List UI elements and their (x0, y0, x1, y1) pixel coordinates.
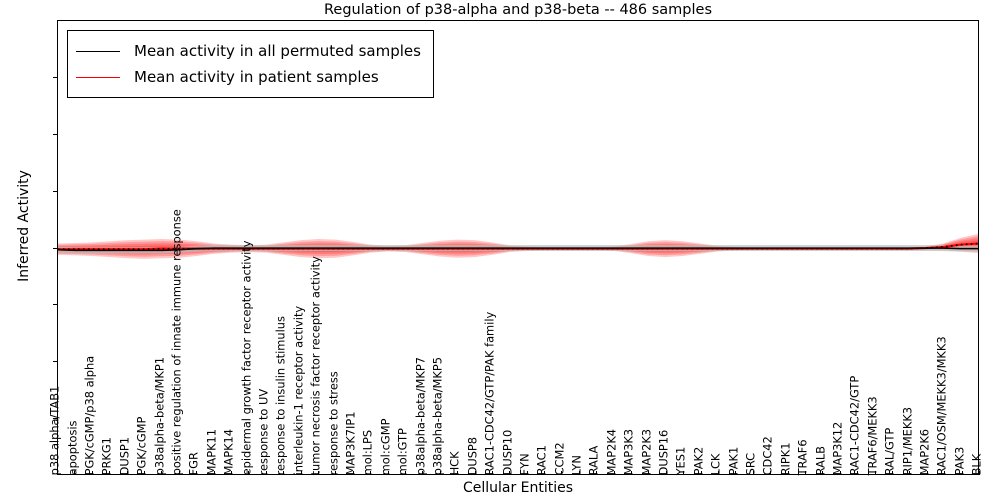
x-axis-title: Cellular Entities (57, 480, 979, 496)
y-tick-mark (53, 248, 57, 249)
y-tick-mark (53, 361, 57, 362)
chart-figure: Regulation of p38-alpha and p38-beta -- … (0, 0, 1000, 500)
legend-line-permuted-icon (76, 51, 120, 52)
legend-label-permuted: Mean activity in all permuted samples (134, 42, 421, 60)
chart-legend: Mean activity in all permuted samples Me… (67, 30, 434, 98)
page-title: Regulation of p38-alpha and p38-beta -- … (57, 1, 979, 19)
y-axis-title: Inferred Activity (16, 16, 32, 436)
x-tick-mark (979, 471, 980, 475)
legend-item-permuted: Mean activity in all permuted samples (76, 38, 421, 64)
legend-label-patient: Mean activity in patient samples (134, 68, 379, 86)
legend-line-patient-icon (76, 77, 120, 78)
y-tick-mark (53, 134, 57, 135)
y-tick-mark (53, 304, 57, 305)
y-tick-mark (53, 191, 57, 192)
legend-item-patient: Mean activity in patient samples (76, 64, 421, 90)
y-tick-mark (53, 418, 57, 419)
y-tick-mark (53, 77, 57, 78)
